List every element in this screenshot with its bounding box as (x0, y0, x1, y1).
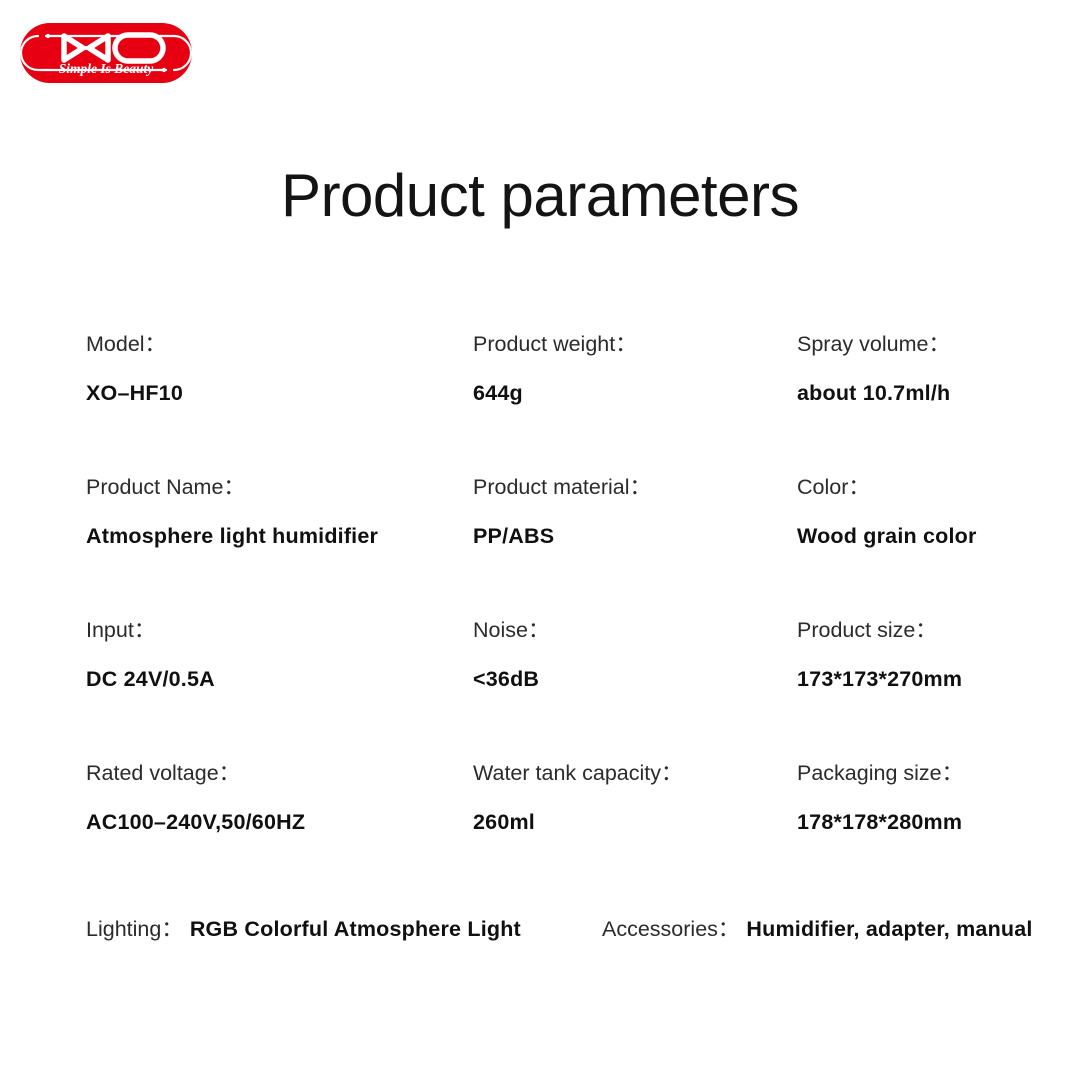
spec-value-input: DC 24V/0.5A (86, 669, 215, 691)
spec-value-accessories: Humidifier, adapter, manual (746, 917, 1032, 941)
spec-value-color: Wood grain color (797, 526, 977, 548)
xo-logo-svg: Simple Is Beauty (20, 23, 192, 83)
spec-grid: Model： XO–HF10 Product weight： 644g Spra… (86, 334, 1026, 906)
spec-label-input: Input： (86, 620, 215, 642)
spec-row: Input： DC 24V/0.5A Noise： <36dB Product … (86, 620, 1026, 763)
spec-footer: Lighting：RGB Colorful Atmosphere Light A… (86, 919, 1066, 949)
spec-label-noise: Noise： (473, 620, 549, 642)
spec-label-spray-volume: Spray volume： (797, 334, 950, 356)
logo-dot-top-left (46, 34, 50, 38)
page-title: Product parameters (0, 164, 1080, 227)
spec-cell-noise: Noise： <36dB (473, 620, 549, 690)
spec-cell-color: Color： Wood grain color (797, 477, 977, 547)
spec-label-product-material: Product material： (473, 477, 651, 499)
spec-label-color: Color： (797, 477, 977, 499)
spec-value-product-name: Atmosphere light humidifier (86, 526, 378, 548)
spec-value-product-size: 173*173*270mm (797, 669, 962, 691)
spec-label-accessories: Accessories： (602, 917, 739, 941)
spec-value-noise: <36dB (473, 669, 549, 691)
spec-value-packaging-size: 178*178*280mm (797, 812, 963, 834)
spec-label-rated-voltage: Rated voltage： (86, 763, 305, 785)
spec-cell-rated-voltage: Rated voltage： AC100–240V,50/60HZ (86, 763, 305, 833)
spec-value-model: XO–HF10 (86, 383, 183, 405)
spec-row: Product Name： Atmosphere light humidifie… (86, 477, 1026, 620)
spec-value-water-tank-capacity: 260ml (473, 812, 683, 834)
logo-dot-bottom-right (162, 68, 166, 72)
spec-cell-water-tank-capacity: Water tank capacity： 260ml (473, 763, 683, 833)
spec-row: Model： XO–HF10 Product weight： 644g Spra… (86, 334, 1026, 477)
spec-label-lighting: Lighting： (86, 917, 183, 941)
spec-value-rated-voltage: AC100–240V,50/60HZ (86, 812, 305, 834)
spec-value-lighting: RGB Colorful Atmosphere Light (190, 917, 521, 941)
spec-cell-input: Input： DC 24V/0.5A (86, 620, 215, 690)
xo-logo: Simple Is Beauty (20, 23, 192, 83)
spec-label-water-tank-capacity: Water tank capacity： (473, 763, 683, 785)
spec-label-product-name: Product Name： (86, 477, 378, 499)
spec-row: Rated voltage： AC100–240V,50/60HZ Water … (86, 763, 1026, 906)
spec-cell-product-name: Product Name： Atmosphere light humidifie… (86, 477, 378, 547)
spec-cell-accessories: Accessories：Humidifier, adapter, manual (602, 919, 1033, 941)
spec-cell-lighting: Lighting：RGB Colorful Atmosphere Light (86, 919, 521, 941)
spec-cell-model: Model： XO–HF10 (86, 334, 183, 404)
spec-cell-product-material: Product material： PP/ABS (473, 477, 651, 547)
spec-value-spray-volume: about 10.7ml/h (797, 383, 950, 405)
spec-label-packaging-size: Packaging size： (797, 763, 963, 785)
logo-tagline: Simple Is Beauty (59, 61, 155, 76)
spec-cell-product-size: Product size： 173*173*270mm (797, 620, 962, 690)
logo-x-center-bar (81, 46, 91, 50)
spec-cell-spray-volume: Spray volume： about 10.7ml/h (797, 334, 950, 404)
spec-value-product-material: PP/ABS (473, 526, 651, 548)
spec-label-product-weight: Product weight： (473, 334, 637, 356)
spec-value-product-weight: 644g (473, 383, 637, 405)
spec-cell-product-weight: Product weight： 644g (473, 334, 637, 404)
spec-label-product-size: Product size： (797, 620, 962, 642)
spec-cell-packaging-size: Packaging size： 178*178*280mm (797, 763, 963, 833)
spec-label-model: Model： (86, 334, 183, 356)
